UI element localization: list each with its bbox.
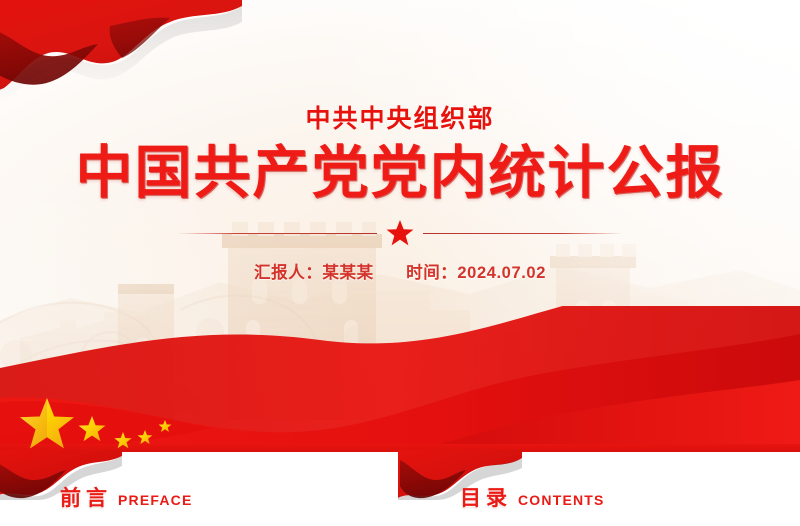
divider-rule-right: [423, 233, 623, 234]
flag-star-small-1: [79, 416, 106, 441]
flag-star-large: [20, 398, 74, 448]
slide-cover: 中共中央组织部 中国共产党党内统计公报 汇报人：某某某 时间：2024.07.0…: [0, 0, 800, 526]
date-label: 时间：2024.07.02: [406, 264, 546, 282]
silk-ribbon-top-left: [0, 0, 242, 104]
footer-contents-en: CONTENTS: [518, 492, 605, 508]
flag-star-small-2: [114, 432, 131, 448]
divider: [160, 218, 640, 248]
footer-preface-cn: 前言: [60, 482, 112, 512]
five-star-flag-motif: [18, 392, 183, 458]
flag-star-small-4: [159, 420, 172, 432]
footer-contents-cn: 目录: [460, 482, 512, 512]
footer-preface-en: PREFACE: [118, 492, 193, 508]
byline: 汇报人：某某某 时间：2024.07.02: [0, 259, 800, 283]
footer-item-preface[interactable]: 前言 PREFACE: [60, 482, 193, 512]
divider-rule-left: [177, 233, 377, 234]
reporter-label: 汇报人：某某某: [254, 264, 374, 282]
title-block: 中共中央组织部 中国共产党党内统计公报 汇报人：某某某 时间：2024.07.0…: [0, 106, 800, 283]
page-title: 中国共产党党内统计公报: [0, 143, 800, 205]
five-pointed-star-icon: [385, 218, 415, 248]
footer-item-contents[interactable]: 目录 CONTENTS: [460, 482, 605, 512]
flag-star-small-3: [138, 430, 153, 444]
organization-subtitle: 中共中央组织部: [0, 106, 800, 134]
